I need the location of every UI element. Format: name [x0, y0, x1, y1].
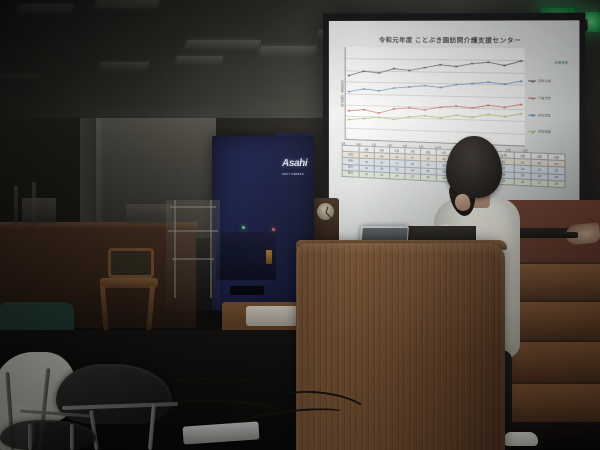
legend-marker-icon — [528, 81, 536, 82]
chart-point — [362, 109, 365, 111]
wall-clock-icon — [316, 202, 335, 221]
x-tick-label: 4月 — [341, 141, 346, 145]
chart-point — [519, 80, 522, 82]
legend-label: 訪問介護 — [538, 80, 551, 84]
chart-point — [392, 119, 395, 121]
legend-header: 利用者数 — [528, 61, 568, 65]
table-cell: 13 — [405, 173, 421, 180]
ceiling-light — [94, 0, 160, 8]
ceiling-light — [175, 56, 224, 63]
chart-point — [519, 104, 522, 106]
brand-subtext: SOFT DRINKS — [282, 169, 312, 180]
x-tick-label: 6月 — [372, 142, 377, 146]
legend-label: 居宅支援 — [538, 113, 551, 117]
vending-machine-led — [272, 228, 275, 231]
legend-item: 介護予防 — [528, 96, 568, 101]
chart-point — [455, 114, 458, 116]
chart-line-訪問介護 — [349, 59, 521, 78]
chart-plot-area — [345, 47, 525, 146]
legend-label: 介護予防 — [538, 96, 551, 100]
chart-point — [439, 106, 442, 108]
slide-title: 令和元年度 ことぶき園訪問介護支援センター — [336, 35, 570, 45]
chart-point — [503, 106, 506, 108]
presenter-head — [446, 136, 502, 198]
chair-back — [108, 248, 154, 278]
table-cell: 14 — [389, 172, 404, 179]
chart-point — [471, 83, 474, 85]
chart-point — [487, 61, 490, 63]
chart-point — [455, 66, 458, 68]
chart-point — [348, 110, 351, 112]
counter-post — [14, 186, 18, 226]
vending-machine-coin-slot[interactable] — [266, 250, 272, 264]
chart-line-総合事業 — [349, 109, 521, 125]
chart-point — [423, 109, 426, 111]
x-tick-label: 5月 — [356, 142, 361, 146]
legend-marker-icon — [528, 114, 536, 115]
chart-point — [487, 114, 490, 116]
chart-point — [519, 113, 522, 115]
chart-point — [362, 88, 365, 90]
vending-machine-dispenser[interactable] — [230, 286, 264, 295]
chart-point — [455, 84, 458, 86]
chart-point — [487, 81, 490, 83]
presenter-shoe — [504, 432, 538, 446]
table-cell: 13 — [374, 172, 389, 179]
chart-point — [348, 119, 351, 121]
x-tick-label: 7月 — [387, 143, 392, 147]
table-row-label: 総合 — [342, 170, 359, 177]
chart-point — [503, 116, 506, 118]
legend-item: 訪問介護 — [528, 79, 568, 83]
equipment-rack — [166, 200, 220, 310]
chart-point — [423, 67, 426, 69]
chart-point — [439, 64, 442, 66]
chart-point — [503, 83, 506, 85]
handheld-device — [560, 232, 578, 238]
line-chart: 利用者数・訪問件数 利用者数 — [338, 47, 568, 148]
counter-post — [32, 182, 36, 226]
vending-machine-led — [242, 226, 245, 229]
ceiling-light — [99, 62, 150, 69]
chart-point — [455, 105, 458, 107]
chart-point — [471, 107, 474, 109]
legend-label: 総合事業 — [538, 130, 551, 134]
ceiling-light — [185, 40, 262, 48]
chart-point — [423, 85, 426, 87]
chart-point — [408, 116, 411, 118]
chart-point — [348, 91, 351, 93]
chart-point — [471, 63, 474, 65]
chart-point — [377, 117, 380, 119]
chart-point — [408, 86, 411, 88]
table-cell: 19 — [548, 180, 565, 188]
chart-point — [408, 107, 411, 109]
chart-line-居宅支援 — [349, 78, 521, 95]
table-cell: 17 — [531, 179, 548, 186]
chart-point — [439, 117, 442, 119]
legend-marker-icon — [528, 98, 536, 99]
chart-series-svg — [346, 47, 525, 145]
chart-y-axis-label: 利用者数・訪問件数 — [338, 47, 345, 140]
x-tick-label: 9月 — [419, 144, 424, 148]
chart-point — [377, 90, 380, 92]
table-cell: 12 — [359, 171, 374, 178]
room-scene: 令和元年度 ことぶき園訪問介護支援センター 利用者数・訪問件数 — [0, 0, 600, 450]
counter-object — [22, 198, 56, 224]
ceiling-light — [16, 4, 74, 13]
ceiling-light — [0, 74, 41, 79]
chart-point — [423, 115, 426, 117]
legend-item: 総合事業 — [528, 130, 568, 135]
legend-marker-icon — [528, 131, 536, 132]
vending-machine-brand-logo: Asahi SOFT DRINKS — [282, 158, 312, 176]
brand-text: Asahi — [282, 158, 307, 169]
chart-point — [471, 116, 474, 118]
ceiling-light — [259, 46, 317, 54]
chart-point — [362, 118, 365, 120]
chart-point — [392, 87, 395, 89]
chart-point — [408, 70, 411, 72]
chart-legend: 利用者数 訪問介護 介護予防 居宅支援 — [525, 48, 568, 148]
wooden-chair[interactable] — [96, 248, 158, 334]
chart-line-介護予防 — [349, 100, 521, 117]
legend-item: 居宅支援 — [528, 113, 568, 118]
x-tick-label: 8月 — [403, 144, 408, 148]
chart-point — [487, 104, 490, 106]
chart-point — [439, 87, 442, 89]
